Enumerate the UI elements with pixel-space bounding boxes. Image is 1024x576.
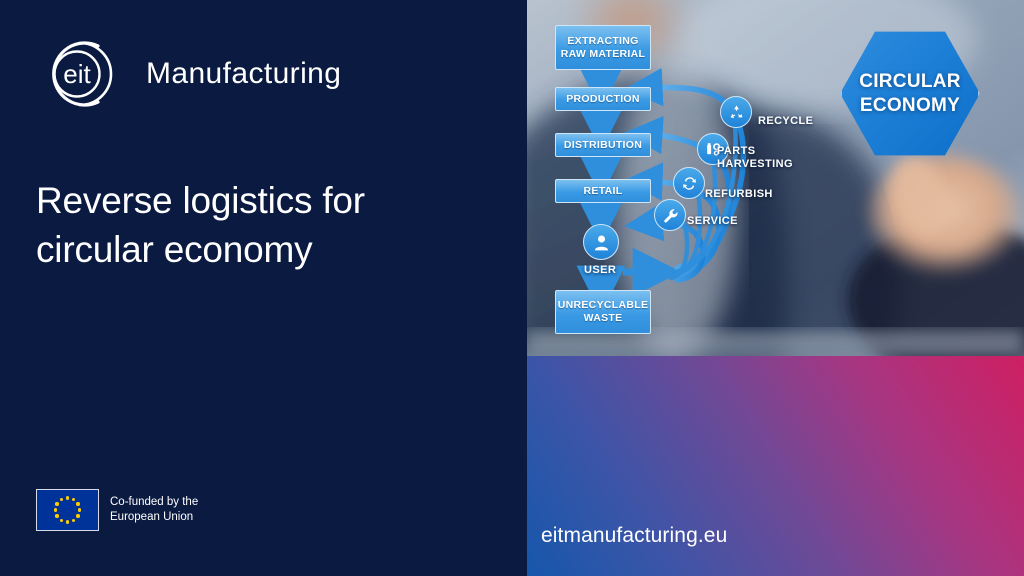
eu-star xyxy=(55,502,58,505)
eu-star xyxy=(66,496,69,499)
gradient-band: eitmanufacturing.eu xyxy=(527,356,1024,576)
process-box-distribution[interactable]: DISTRIBUTION xyxy=(555,133,651,157)
process-box-extracting-raw-material[interactable]: EXTRACTING RAW MATERIAL xyxy=(555,25,651,70)
process-box-retail[interactable]: RETAIL xyxy=(555,179,651,203)
recycle-label: RECYCLE xyxy=(758,115,813,128)
refresh-arrows-icon xyxy=(680,174,699,193)
process-box-unrecyclable-waste[interactable]: UNRECYCLABLE WASTE xyxy=(555,290,651,334)
eu-funding-badge: Co-funded by the European Union xyxy=(36,489,198,531)
logo-wordmark: Manufacturing xyxy=(146,57,341,91)
eu-star xyxy=(76,514,79,517)
circular-economy-badge[interactable]: CIRCULAR ECONOMY xyxy=(840,29,980,158)
parts-harvesting-label: PARTS HARVESTING xyxy=(717,145,793,171)
eu-star xyxy=(60,498,63,501)
refurbish-node[interactable] xyxy=(673,167,705,199)
european-union-flag-icon xyxy=(36,489,99,531)
process-box-production[interactable]: PRODUCTION xyxy=(555,87,651,111)
page-title: Reverse logistics for circular economy xyxy=(36,176,456,274)
eu-star xyxy=(54,508,57,511)
service-label: SERVICE xyxy=(687,215,738,228)
eu-star xyxy=(76,502,79,505)
recycle-node[interactable] xyxy=(720,96,752,128)
website-url: eitmanufacturing.eu xyxy=(541,524,727,548)
eu-star xyxy=(72,519,75,522)
eu-star xyxy=(66,520,69,523)
left-panel: eit Manufacturing Reverse logistics for … xyxy=(0,0,527,576)
recycle-icon xyxy=(727,103,746,122)
wrench-icon xyxy=(661,206,680,225)
service-node[interactable] xyxy=(654,199,686,231)
eu-star xyxy=(60,519,63,522)
eit-circle-logo-icon: eit xyxy=(36,34,118,114)
circular-economy-label: CIRCULAR ECONOMY xyxy=(840,29,980,158)
brand-logo: eit Manufacturing xyxy=(36,34,356,114)
eu-star xyxy=(78,508,81,511)
user-label: USER xyxy=(584,264,616,277)
eu-funding-label: Co-funded by the European Union xyxy=(110,495,198,525)
eu-star xyxy=(55,514,58,517)
circular-economy-diagram: EXTRACTING RAW MATERIAL PRODUCTION DISTR… xyxy=(527,0,1024,356)
logo-mark-text: eit xyxy=(63,59,91,89)
eu-star xyxy=(72,498,75,501)
refurbish-label: REFURBISH xyxy=(705,188,773,201)
person-icon xyxy=(591,232,612,253)
presentation-slide: eit Manufacturing Reverse logistics for … xyxy=(0,0,1024,576)
user-node[interactable] xyxy=(583,224,619,260)
photo-panel: EXTRACTING RAW MATERIAL PRODUCTION DISTR… xyxy=(527,0,1024,356)
